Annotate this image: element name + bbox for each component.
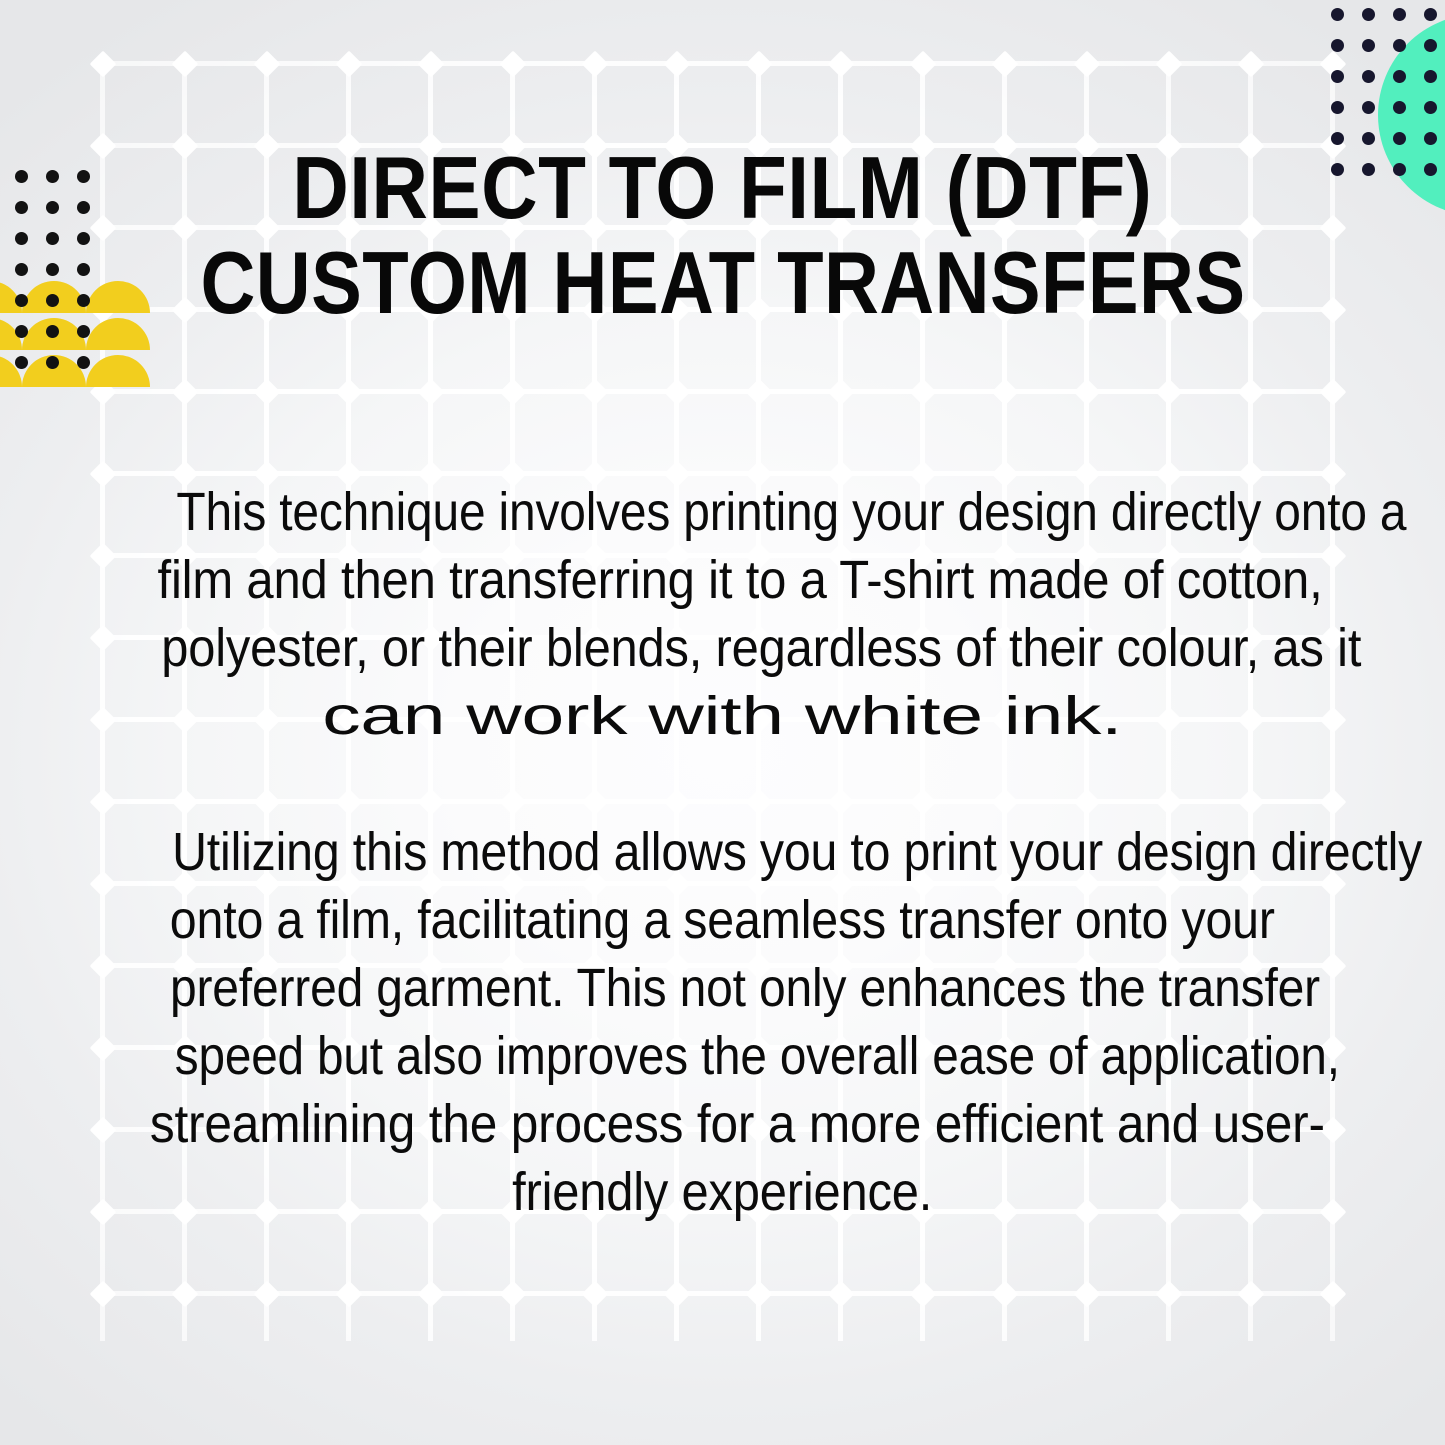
body-line: speed but also improves the overall ease… — [174, 1022, 1339, 1090]
title-block: DIRECT TO FILM (DTF) CUSTOM HEAT TRANSFE… — [0, 140, 1445, 330]
title-line-1: DIRECT TO FILM (DTF) — [292, 140, 1152, 235]
body-line: Utilizing this method allows you to prin… — [172, 818, 1422, 886]
body-line: friendly experience. — [512, 1158, 932, 1226]
body-line: preferred garment. This not only enhance… — [169, 954, 1319, 1022]
body-paragraph-2: Utilizing this method allows you to prin… — [98, 818, 1348, 1226]
title-line-2: CUSTOM HEAT TRANSFERS — [200, 235, 1245, 330]
body-line: film and then transferring it to a T-shi… — [157, 546, 1322, 614]
body-line: This technique involves printing your de… — [176, 478, 1406, 546]
poster-canvas: DIRECT TO FILM (DTF) CUSTOM HEAT TRANSFE… — [0, 0, 1445, 1445]
body-line: onto a film, facilitating a seamless tra… — [170, 886, 1275, 954]
body-line: polyester, or their blends, regardless o… — [161, 614, 1361, 682]
page-title: DIRECT TO FILM (DTF) CUSTOM HEAT TRANSFE… — [0, 140, 1445, 330]
poster-content: DIRECT TO FILM (DTF) CUSTOM HEAT TRANSFE… — [0, 0, 1445, 1445]
body-line: can work with white ink. — [322, 682, 1122, 750]
body-paragraph-1: This technique involves printing your de… — [98, 478, 1348, 750]
body-line: streamlining the process for a more effi… — [149, 1090, 1324, 1158]
